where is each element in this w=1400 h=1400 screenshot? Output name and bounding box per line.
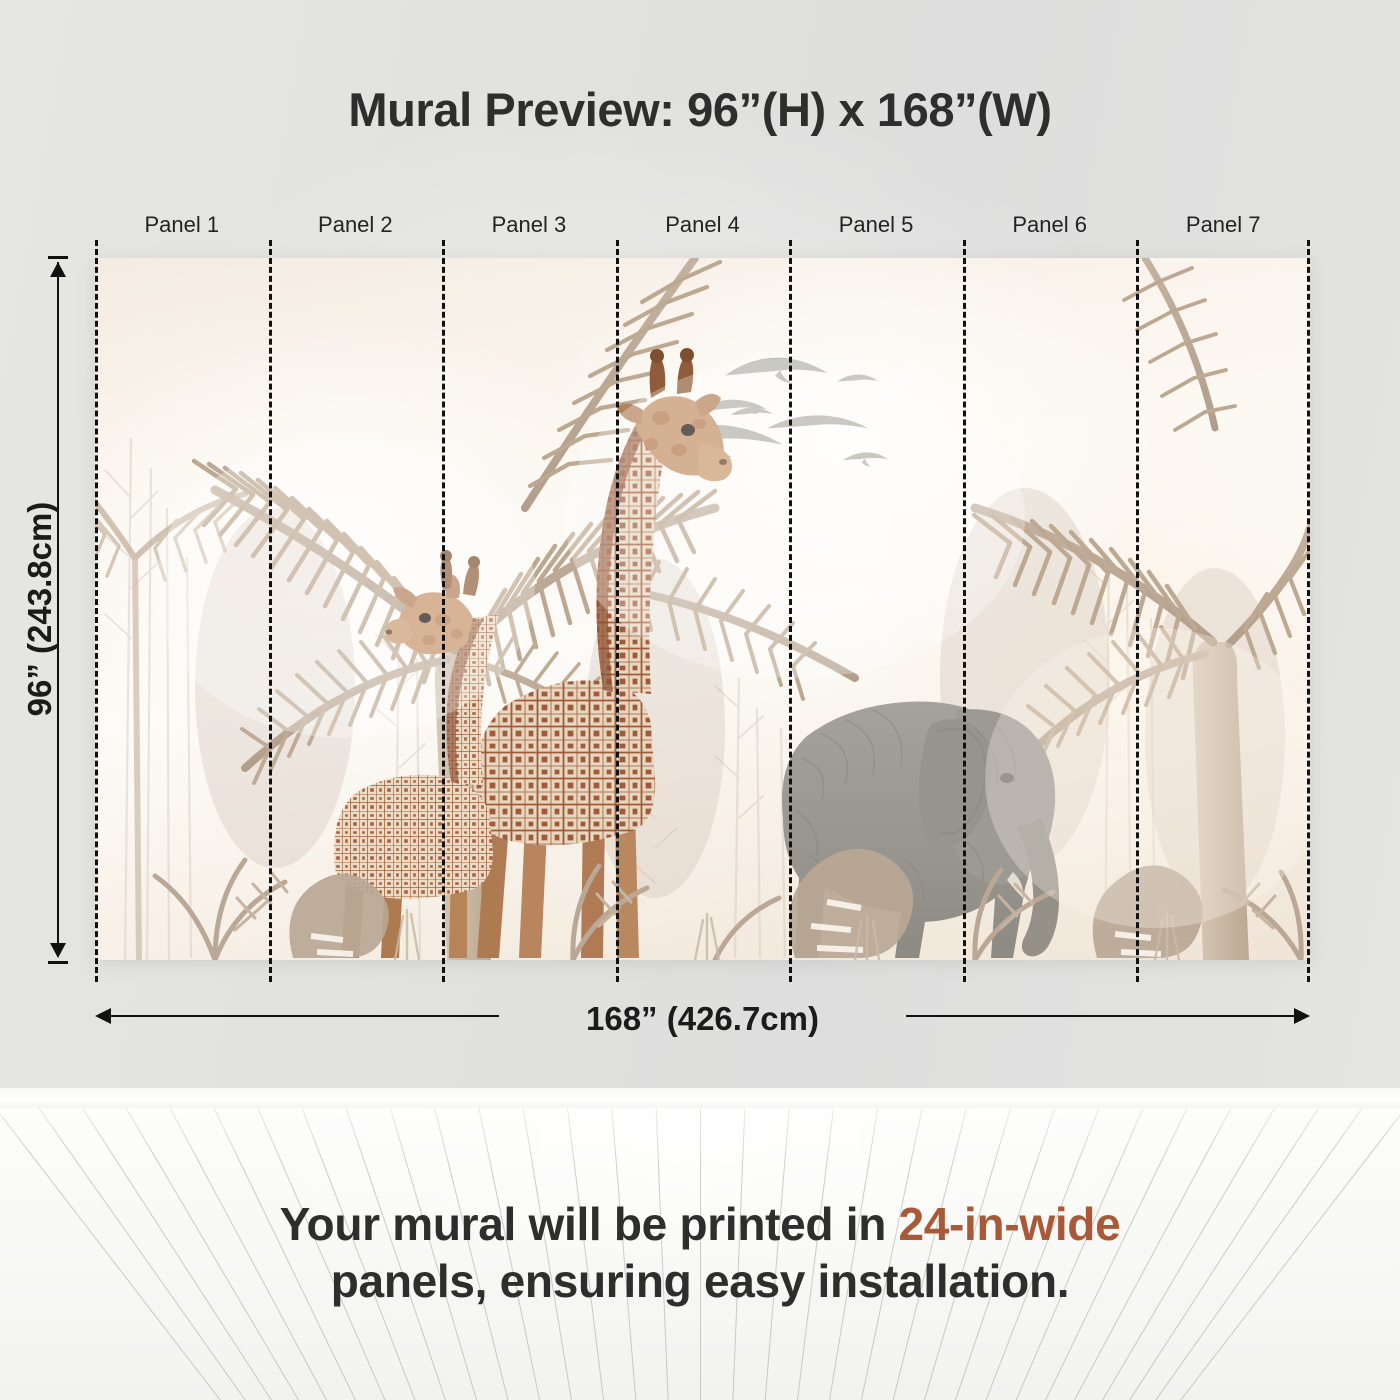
caption-highlight: 24-in-wide: [898, 1198, 1120, 1250]
panel-label-2: Panel 2: [318, 212, 393, 238]
height-tick-bottom: [48, 961, 68, 964]
panel-label-4: Panel 4: [665, 212, 740, 238]
caption-line1-before: Your mural will be printed in: [280, 1198, 899, 1250]
width-line-right: [906, 1015, 1296, 1017]
mural-illustration: [95, 258, 1310, 960]
baseboard: [0, 1088, 1400, 1110]
atmospheric-haze: [155, 358, 1310, 928]
arrow-down-icon: [50, 943, 66, 958]
panel-label-1: Panel 1: [144, 212, 219, 238]
height-tick-top: [48, 256, 68, 259]
mural-artwork: [95, 258, 1310, 960]
caption-line2: panels, ensuring easy installation.: [331, 1255, 1070, 1307]
width-dimension: 168” (426.7cm): [95, 1000, 1310, 1034]
arrow-right-icon: [1294, 1008, 1310, 1024]
caption: Your mural will be printed in 24-in-wide…: [100, 1196, 1300, 1309]
panel-label-5: Panel 5: [839, 212, 914, 238]
page-title: Mural Preview: 96”(H) x 168”(W): [0, 82, 1400, 137]
panel-label-7: Panel 7: [1186, 212, 1261, 238]
arrow-up-icon: [50, 262, 66, 277]
height-label: 96” (243.8cm): [21, 329, 59, 889]
room-scene: Mural Preview: 96”(H) x 168”(W) Panel 1P…: [0, 0, 1400, 1400]
mural-preview[interactable]: [95, 258, 1310, 960]
panel-label-row: Panel 1Panel 2Panel 3Panel 4Panel 5Panel…: [95, 212, 1310, 246]
panel-label-6: Panel 6: [1012, 212, 1087, 238]
width-label: 168” (426.7cm): [95, 1000, 1310, 1038]
panel-label-3: Panel 3: [492, 212, 567, 238]
